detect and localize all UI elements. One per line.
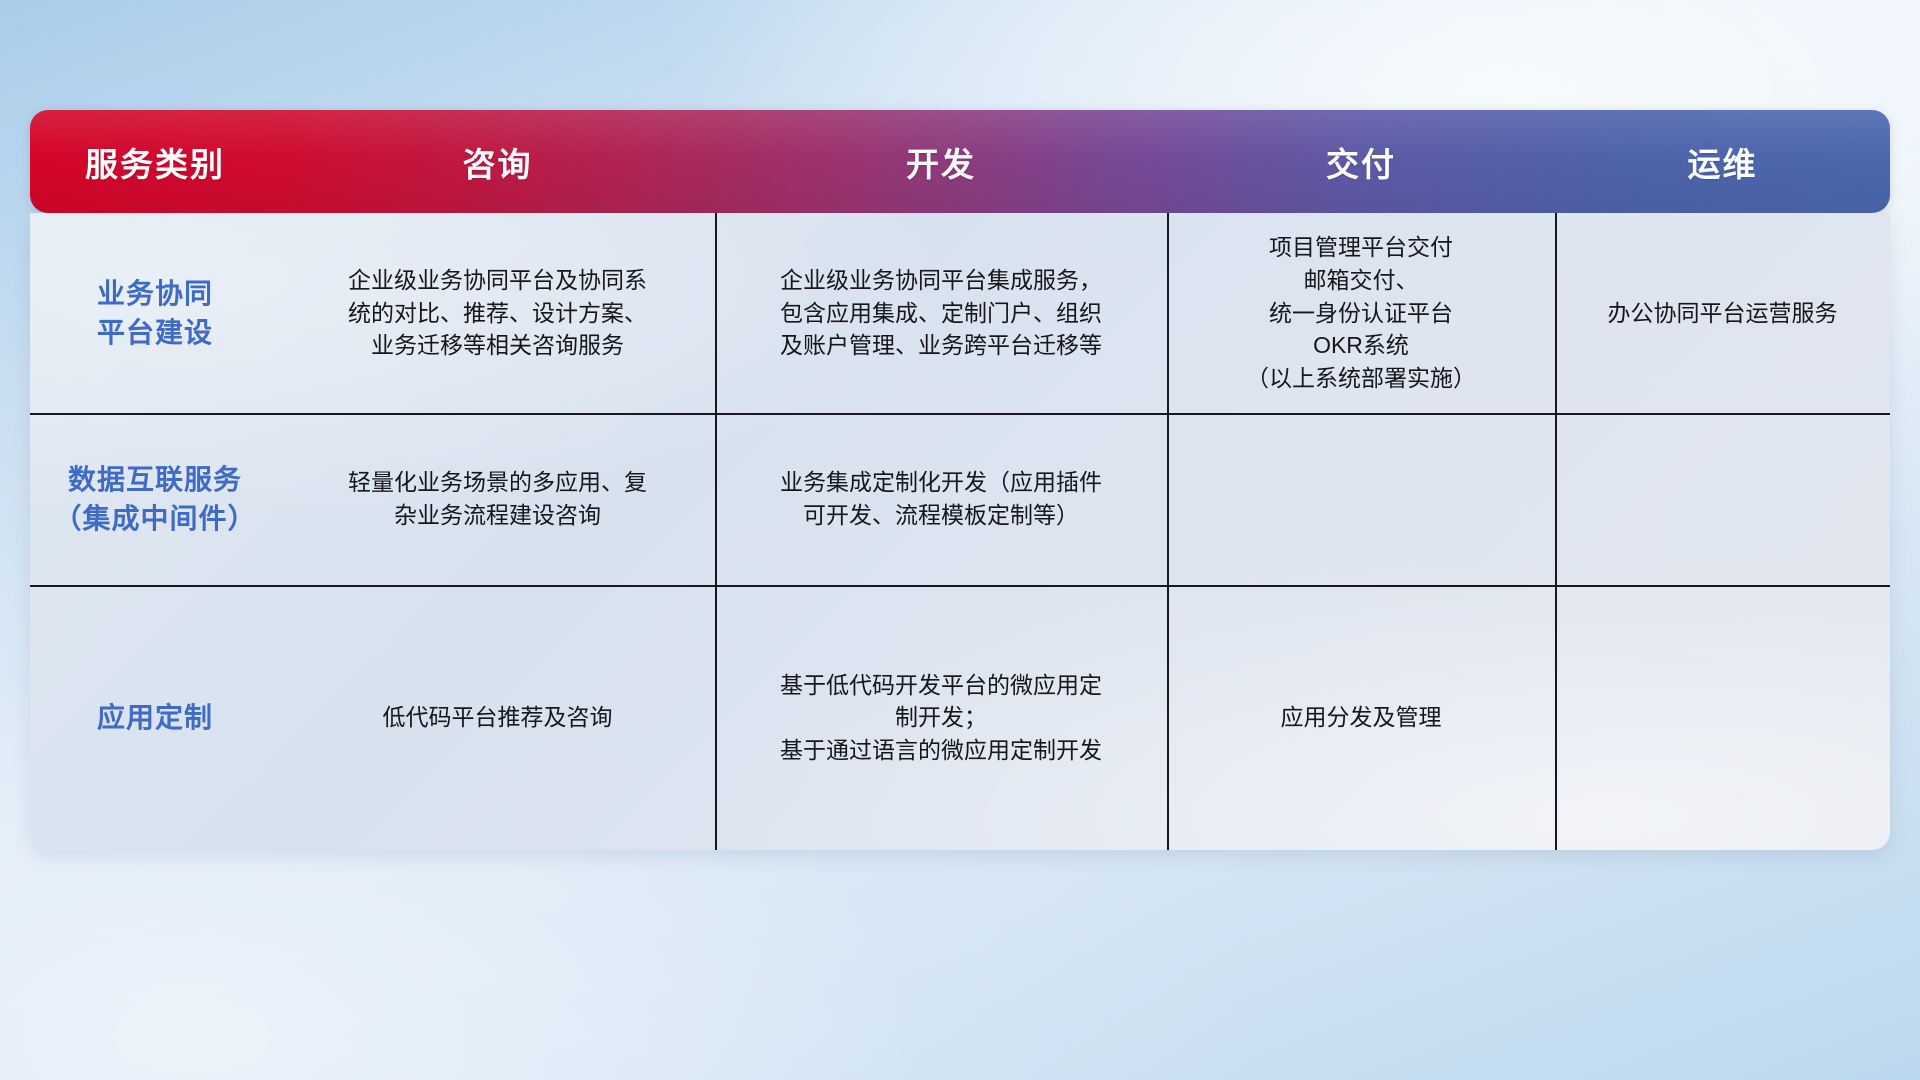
service-matrix-table: 服务类别 咨询 开发 交付 运维 业务协同 平台建设 企业级业务协同平台及协同系… — [30, 110, 1890, 850]
row-category-label: 业务协同 平台建设 — [30, 213, 280, 413]
column-header-service-category: 服务类别 — [30, 138, 280, 186]
cell-operations: 办公协同平台运营服务 — [1555, 213, 1890, 413]
column-header-consulting: 咨询 — [280, 138, 715, 186]
row-category-label: 应用定制 — [30, 585, 280, 850]
cell-consulting: 企业级业务协同平台及协同系 统的对比、推荐、设计方案、 业务迁移等相关咨询服务 — [280, 213, 715, 413]
cell-operations — [1555, 585, 1890, 850]
cell-delivery: 项目管理平台交付 邮箱交付、 统一身份认证平台 OKR系统 （以上系统部署实施） — [1167, 213, 1555, 413]
cell-consulting: 低代码平台推荐及咨询 — [280, 585, 715, 850]
column-header-delivery: 交付 — [1167, 138, 1555, 186]
column-header-development: 开发 — [715, 138, 1167, 186]
cell-delivery: 应用分发及管理 — [1167, 585, 1555, 850]
table-row: 应用定制 低代码平台推荐及咨询 基于低代码开发平台的微应用定 制开发； 基于通过… — [30, 585, 1890, 850]
row-category-label: 数据互联服务 （集成中间件） — [30, 413, 280, 585]
cell-development: 基于低代码开发平台的微应用定 制开发； 基于通过语言的微应用定制开发 — [715, 585, 1167, 850]
cell-consulting: 轻量化业务场景的多应用、复 杂业务流程建设咨询 — [280, 413, 715, 585]
cell-operations — [1555, 413, 1890, 585]
cell-development: 企业级业务协同平台集成服务， 包含应用集成、定制门户、组织 及账户管理、业务跨平… — [715, 213, 1167, 413]
cell-development: 业务集成定制化开发（应用插件 可开发、流程模板定制等） — [715, 413, 1167, 585]
cell-delivery — [1167, 413, 1555, 585]
table-row: 业务协同 平台建设 企业级业务协同平台及协同系 统的对比、推荐、设计方案、 业务… — [30, 213, 1890, 413]
table-row: 数据互联服务 （集成中间件） 轻量化业务场景的多应用、复 杂业务流程建设咨询 业… — [30, 413, 1890, 585]
table-body: 业务协同 平台建设 企业级业务协同平台及协同系 统的对比、推荐、设计方案、 业务… — [30, 213, 1890, 850]
column-header-operations: 运维 — [1555, 138, 1890, 186]
table-header-row: 服务类别 咨询 开发 交付 运维 — [30, 110, 1890, 213]
